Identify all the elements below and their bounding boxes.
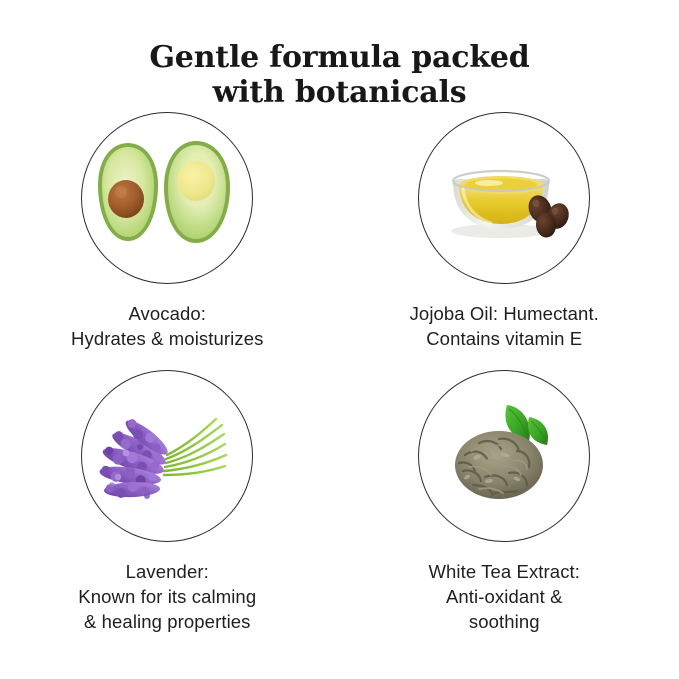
ingredient-card-white-tea-extract: White Tea Extract: Anti-oxidant & soothi… (340, 370, 679, 640)
avocado-half-left (98, 143, 158, 241)
lavender-medallion (81, 370, 253, 542)
jojoba-oil-caption-line-2: Contains vitamin E (410, 326, 599, 351)
white-tea-medallion (418, 370, 590, 542)
ingredient-card-avocado: Avocado: Hydrates & moisturizes (0, 112, 340, 370)
ingredient-card-lavender: Lavender: Known for its calming & healin… (0, 370, 340, 640)
ingredient-card-jojoba-oil: Jojoba Oil: Humectant. Contains vitamin … (340, 112, 679, 370)
jojoba-oil-caption-line-1: Jojoba Oil: Humectant. (410, 301, 599, 326)
page-title: Gentle formula packed with botanicals (0, 40, 679, 110)
white-tea-caption: White Tea Extract: Anti-oxidant & soothi… (428, 559, 580, 634)
jojoba-oil-caption: Jojoba Oil: Humectant. Contains vitamin … (410, 301, 599, 351)
jojoba-oil-bowl-illustration (429, 123, 579, 273)
lavender-caption-line-3: & healing properties (78, 609, 256, 634)
ingredient-grid: Avocado: Hydrates & moisturizes (0, 112, 679, 640)
lavender-caption-line-2: Known for its calming (78, 584, 256, 609)
avocado-caption: Avocado: Hydrates & moisturizes (71, 301, 263, 351)
white-tea-caption-line-1: White Tea Extract: (428, 559, 580, 584)
white-tea-caption-line-2: Anti-oxidant & (428, 584, 580, 609)
avocado-medallion (81, 112, 253, 284)
page-title-line-1: Gentle formula packed (0, 40, 679, 75)
ingredient-infographic: Gentle formula packed with botanicals (0, 0, 679, 679)
jojoba-oil-medallion (418, 112, 590, 284)
lavender-flowers (99, 416, 172, 499)
lavender-stems (164, 419, 226, 475)
page-title-line-2: with botanicals (0, 75, 679, 110)
ingredient-row-bottom: Lavender: Known for its calming & healin… (0, 370, 679, 640)
white-tea-caption-line-3: soothing (428, 609, 580, 634)
white-tea-leaves-illustration (429, 381, 579, 531)
lavender-caption: Lavender: Known for its calming & healin… (78, 559, 256, 634)
lavender-bundle-illustration (92, 381, 242, 531)
avocado-caption-line-1: Avocado: (71, 301, 263, 326)
avocado-caption-line-2: Hydrates & moisturizes (71, 326, 263, 351)
avocado-halves-illustration (92, 123, 242, 273)
lavender-caption-line-1: Lavender: (78, 559, 256, 584)
avocado-half-right (164, 141, 230, 243)
dried-tea-leaves-pile (455, 431, 543, 499)
ingredient-row-top: Avocado: Hydrates & moisturizes (0, 112, 679, 370)
